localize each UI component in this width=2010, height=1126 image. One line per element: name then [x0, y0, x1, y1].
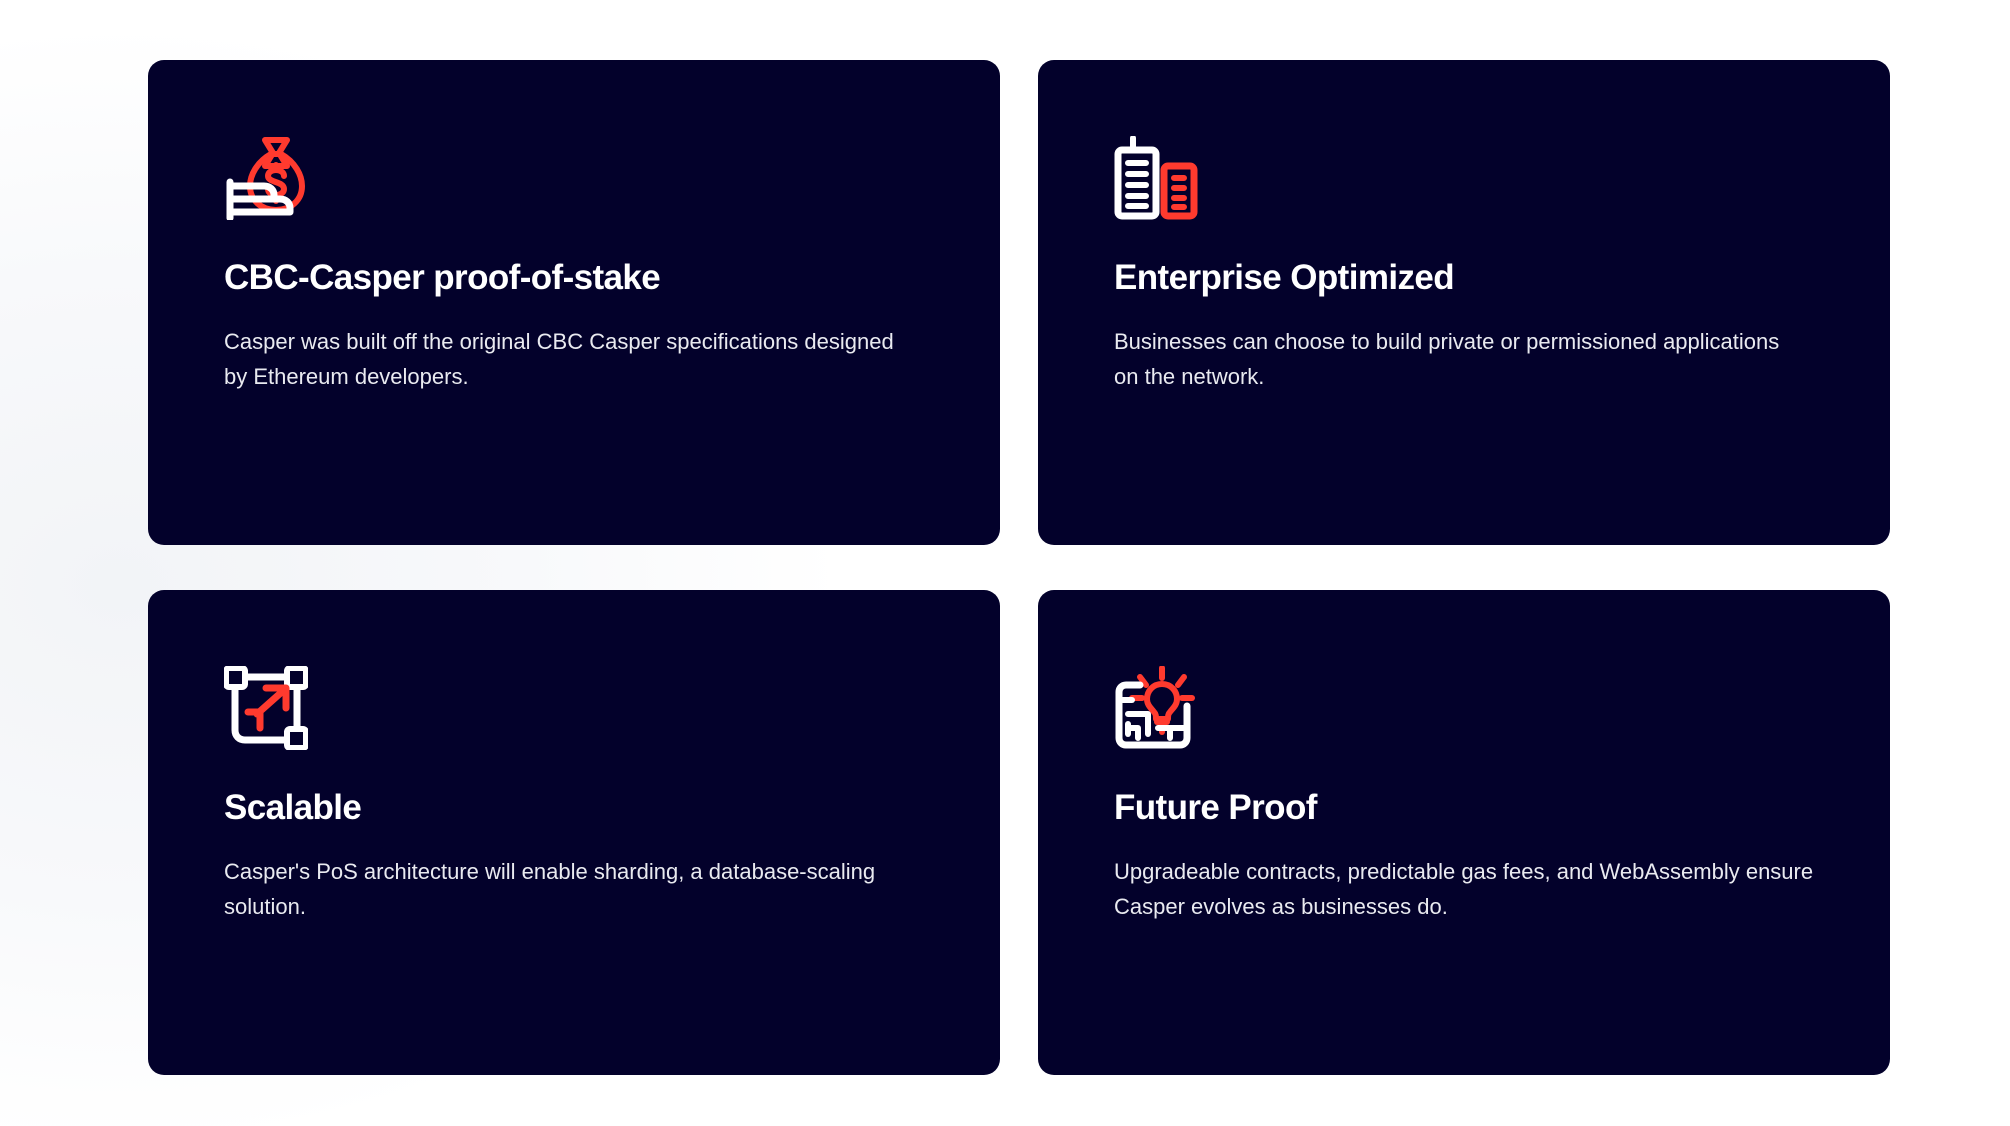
- feature-card-grid: CBC-Casper proof-of-stake Casper was bui…: [148, 60, 1890, 1075]
- scale-arrow-frame-icon: [224, 666, 924, 750]
- feature-cards-section: CBC-Casper proof-of-stake Casper was bui…: [0, 0, 2010, 1126]
- feature-card-scalable[interactable]: Scalable Casper's PoS architecture will …: [148, 590, 1000, 1075]
- feature-card-description: Upgradeable contracts, predictable gas f…: [1114, 854, 1814, 924]
- feature-card-future-proof[interactable]: Future Proof Upgradeable contracts, pred…: [1038, 590, 1890, 1075]
- buildings-icon: [1114, 136, 1814, 220]
- feature-card-description: Casper was built off the original CBC Ca…: [224, 324, 914, 394]
- feature-card-cbc-casper-proof-of-stake[interactable]: CBC-Casper proof-of-stake Casper was bui…: [148, 60, 1000, 545]
- feature-card-title: Enterprise Optimized: [1114, 258, 1814, 298]
- feature-card-title: Future Proof: [1114, 788, 1814, 828]
- lightbulb-circuit-icon: [1114, 666, 1814, 750]
- feature-card-title: Scalable: [224, 788, 924, 828]
- feature-card-title: CBC-Casper proof-of-stake: [224, 258, 924, 298]
- feature-card-description: Casper's PoS architecture will enable sh…: [224, 854, 914, 924]
- feature-card-enterprise-optimized[interactable]: Enterprise Optimized Businesses can choo…: [1038, 60, 1890, 545]
- feature-card-description: Businesses can choose to build private o…: [1114, 324, 1804, 394]
- money-bag-stake-icon: [224, 136, 924, 220]
